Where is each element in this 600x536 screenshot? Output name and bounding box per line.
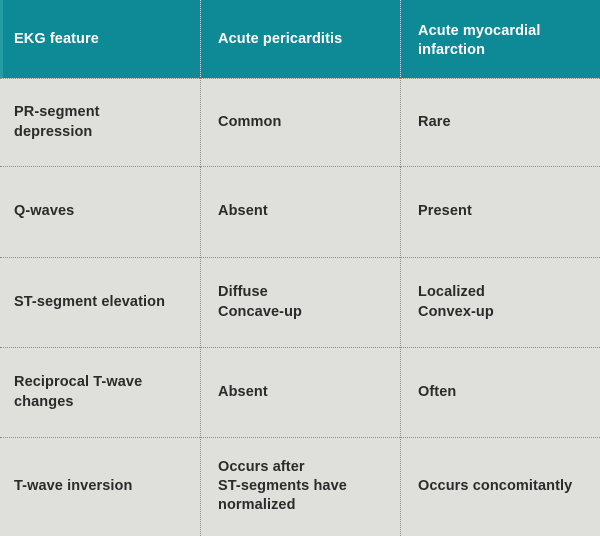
cell-text: Diffuse Concave-up <box>218 283 302 322</box>
cell-feature: Q-waves <box>0 167 200 257</box>
column-header-acute-myocardial-infarction: Acute myocardial infarction <box>400 0 600 78</box>
table-header-row: EKG feature Acute pericarditis Acute myo… <box>0 0 600 78</box>
column-header-ekg-feature: EKG feature <box>0 0 200 78</box>
cell-infarction: Present <box>400 167 600 257</box>
table-body: PR-segment depression Common Rare Q-wave… <box>0 78 600 535</box>
cell-text: Occurs concomitantly <box>418 477 572 496</box>
cell-text: Common <box>218 113 281 132</box>
column-header-acute-pericarditis: Acute pericarditis <box>200 0 400 78</box>
cell-text: Rare <box>418 113 451 132</box>
cell-text: Present <box>418 202 472 221</box>
cell-text: Reciprocal T-wave changes <box>14 373 142 412</box>
column-header-label: Acute myocardial infarction <box>418 22 540 59</box>
table-row: ST-segment elevation Diffuse Concave-up … <box>0 258 600 348</box>
cell-pericarditis: Diffuse Concave-up <box>200 258 400 347</box>
cell-feature: ST-segment elevation <box>0 258 200 347</box>
cell-feature: Reciprocal T-wave changes <box>0 348 200 437</box>
table-row: Reciprocal T-wave changes Absent Often <box>0 348 600 438</box>
column-header-label: EKG feature <box>14 30 99 49</box>
table-row: T-wave inversion Occurs after ST-segment… <box>0 438 600 535</box>
cell-pericarditis: Absent <box>200 348 400 437</box>
cell-infarction: Rare <box>400 79 600 166</box>
cell-text: Q-waves <box>14 202 74 221</box>
cell-pericarditis: Common <box>200 79 400 166</box>
cell-text: T-wave inversion <box>14 477 132 496</box>
cell-feature: T-wave inversion <box>0 438 200 535</box>
cell-infarction: Localized Convex-up <box>400 258 600 347</box>
cell-text: Absent <box>218 202 268 221</box>
table-row: PR-segment depression Common Rare <box>0 78 600 167</box>
cell-text: Localized Convex-up <box>418 283 494 322</box>
ekg-comparison-table: EKG feature Acute pericarditis Acute myo… <box>0 0 600 535</box>
cell-text: Occurs after ST-segments have normalized <box>218 458 347 516</box>
column-header-label: Acute pericarditis <box>218 30 342 49</box>
cell-pericarditis: Occurs after ST-segments have normalized <box>200 438 400 535</box>
cell-pericarditis: Absent <box>200 167 400 257</box>
table-row: Q-waves Absent Present <box>0 167 600 258</box>
cell-text: Absent <box>218 383 268 402</box>
cell-text: Often <box>418 383 456 402</box>
cell-infarction: Often <box>400 348 600 437</box>
cell-infarction: Occurs concomitantly <box>400 438 600 535</box>
cell-feature: PR-segment depression <box>0 79 200 166</box>
cell-text: ST-segment elevation <box>14 293 165 312</box>
cell-text: PR-segment depression <box>14 103 100 142</box>
